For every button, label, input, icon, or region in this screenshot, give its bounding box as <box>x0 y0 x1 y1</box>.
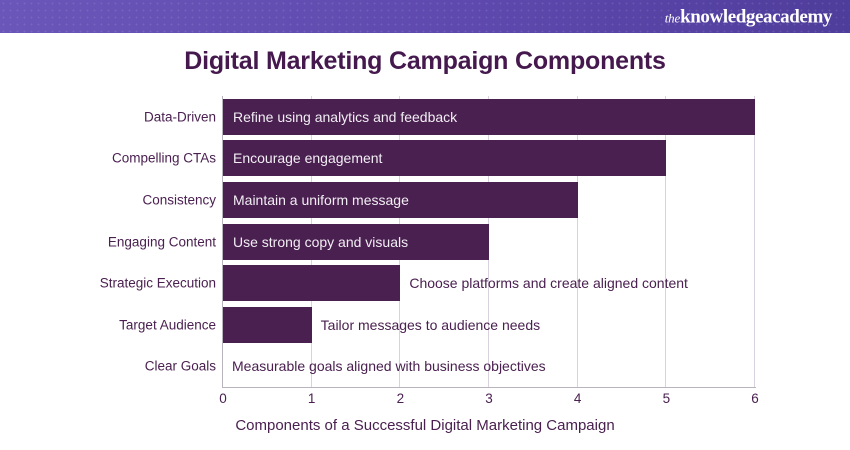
bar[interactable] <box>223 265 400 301</box>
bar-value-label: Refine using analytics and feedback <box>233 110 457 124</box>
x-axis-tick-label: 0 <box>219 392 227 406</box>
bar-row: Choose platforms and create aligned cont… <box>223 265 755 301</box>
y-axis-tick-label: Target Audience <box>0 318 216 332</box>
x-axis-tick-label: 6 <box>751 392 759 406</box>
x-axis-title: Components of a Successful Digital Marke… <box>0 418 850 433</box>
brand-logo: theknowledgeacademy <box>665 7 832 26</box>
x-axis-line <box>222 387 756 388</box>
bar-value-label: Measurable goals aligned with business o… <box>232 359 546 373</box>
brand-prefix: the <box>665 10 680 25</box>
y-axis-tick-label: Clear Goals <box>0 359 216 373</box>
bar-value-label: Choose platforms and create aligned cont… <box>409 276 688 290</box>
y-axis-tick-label: Engaging Content <box>0 235 216 249</box>
bar-row: Refine using analytics and feedback <box>223 99 755 135</box>
x-axis-tick-label: 5 <box>663 392 671 406</box>
y-axis-tick-labels: Data-DrivenCompelling CTAsConsistencyEng… <box>0 96 216 387</box>
x-axis-tick-label: 1 <box>308 392 316 406</box>
bar-value-label: Tailor messages to audience needs <box>321 318 540 332</box>
bar-row: Maintain a uniform message <box>223 182 755 218</box>
y-axis-tick-label: Strategic Execution <box>0 276 216 290</box>
y-axis-tick-label: Compelling CTAs <box>0 152 216 166</box>
y-axis-tick-label: Consistency <box>0 193 216 207</box>
x-axis-tick-label: 2 <box>397 392 405 406</box>
bar-row: Use strong copy and visuals <box>223 224 755 260</box>
bar-value-label: Use strong copy and visuals <box>233 235 408 249</box>
bar[interactable] <box>223 307 312 343</box>
y-axis-tick-label: Data-Driven <box>0 110 216 124</box>
bar-value-label: Encourage engagement <box>233 151 382 165</box>
brand-name: knowledgeacademy <box>680 6 832 27</box>
page-title: Digital Marketing Campaign Components <box>0 47 850 76</box>
bar-value-label: Maintain a uniform message <box>233 193 409 207</box>
x-axis-tick-labels: 0123456 <box>223 392 755 412</box>
header-banner: theknowledgeacademy <box>0 0 850 33</box>
bar-row: Measurable goals aligned with business o… <box>223 348 755 384</box>
bar-row: Tailor messages to audience needs <box>223 307 755 343</box>
plot-area: Refine using analytics and feedbackEncou… <box>223 96 755 387</box>
bar-chart: Data-DrivenCompelling CTAsConsistencyEng… <box>0 96 850 396</box>
x-axis-tick-label: 4 <box>574 392 582 406</box>
x-axis-tick-label: 3 <box>485 392 493 406</box>
bar-row: Encourage engagement <box>223 140 755 176</box>
infographic-root: theknowledgeacademy Digital Marketing Ca… <box>0 0 850 450</box>
